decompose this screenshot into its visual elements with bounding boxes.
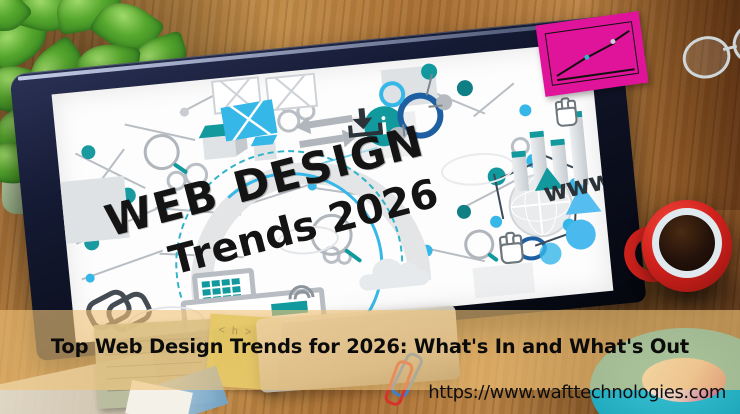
cloud-icon bbox=[357, 255, 430, 292]
site-url[interactable]: https://www.wafttechnologies.com bbox=[428, 382, 726, 403]
coffee-liquid bbox=[659, 215, 715, 271]
network-node bbox=[85, 273, 95, 283]
wifi-icon bbox=[285, 282, 313, 310]
network-node bbox=[81, 145, 96, 160]
page-title: Top Web Design Trends for 2026: What's I… bbox=[0, 335, 740, 358]
magnifier-icon bbox=[142, 132, 181, 171]
cursor-hand-icon bbox=[496, 234, 523, 265]
coffee-mug bbox=[632, 196, 736, 300]
sticky-note-pink bbox=[535, 11, 648, 97]
featured-image-canvas: i bbox=[0, 0, 740, 414]
decorative-box bbox=[473, 262, 536, 298]
network-node bbox=[179, 107, 189, 117]
cursor-hand-icon bbox=[553, 100, 577, 128]
network-node bbox=[456, 79, 473, 96]
monitor-screen: i bbox=[52, 42, 614, 344]
